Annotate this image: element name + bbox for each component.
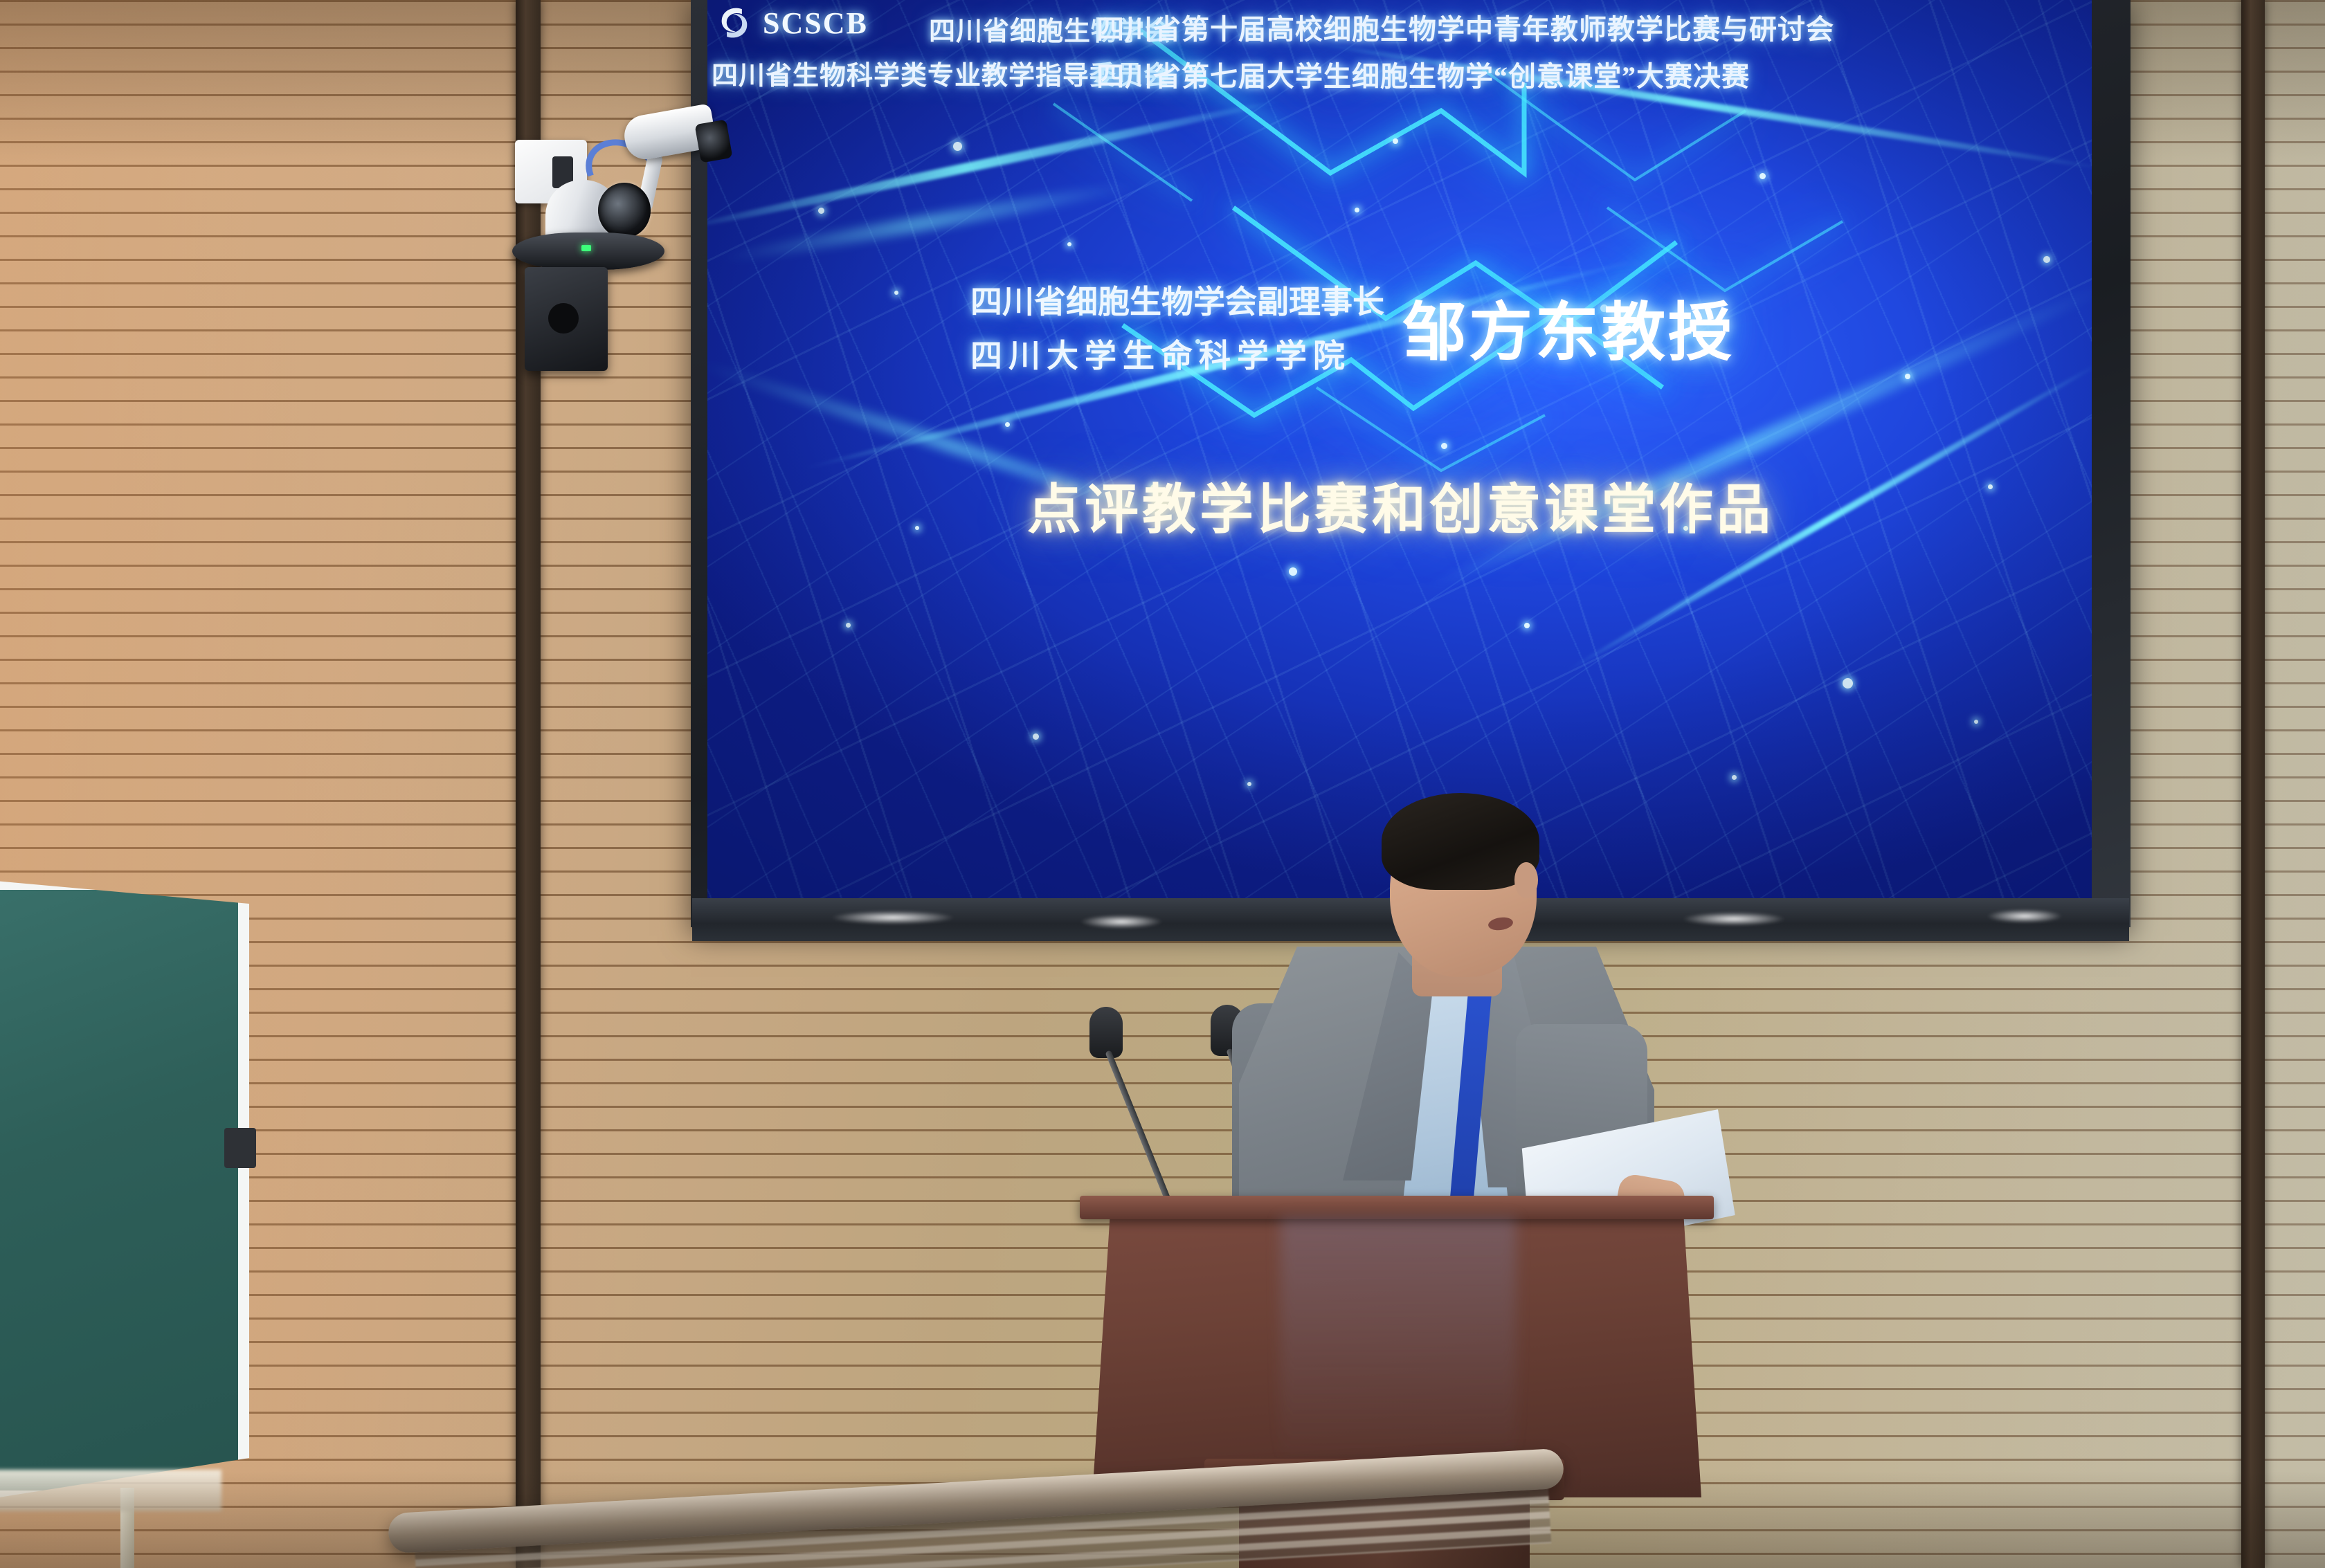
screen-vignette xyxy=(707,0,2092,898)
event-title-line-2: 四川省第七届大学生细胞生物学“创意课堂”大赛决赛 xyxy=(1096,54,1750,94)
speaker-person xyxy=(1239,796,1668,1252)
camera-wall-bracket xyxy=(525,267,608,371)
greenboard-assembly xyxy=(0,879,249,1502)
ptz-camera-lens-icon xyxy=(598,183,651,238)
bullet-camera-lens-icon xyxy=(694,119,732,163)
ptz-camera-base xyxy=(512,233,664,270)
speaker-ear xyxy=(1514,862,1538,898)
wall-camera-rig xyxy=(521,116,714,386)
scscb-swirl-logo-icon xyxy=(714,3,754,43)
conference-photo-scene: SCSCB 四川省细胞生物学会 四川省生物科学类专业教学指导委员会 四川省第十届… xyxy=(0,0,2325,1568)
speaker-name: 邹方东教授 xyxy=(1402,281,1735,373)
chalkboard-clip xyxy=(224,1128,256,1168)
slide-headline: 点评教学比赛和创意课堂作品 xyxy=(1027,466,1774,544)
camera-status-led-icon xyxy=(581,245,591,251)
speaker-affiliation-line-2: 四川大学生命科学学院 xyxy=(970,331,1384,376)
lectern-light-sheen xyxy=(1281,1218,1516,1467)
microphone-capsule-icon xyxy=(1089,1007,1123,1058)
lectern-top-edge xyxy=(1080,1196,1714,1219)
logo-acronym: SCSCB xyxy=(763,6,868,41)
wall-column-divider-right xyxy=(2241,0,2265,1568)
speaker-affiliation-line-1: 四川省细胞生物学会副理事长 xyxy=(970,277,1384,322)
green-chalkboard xyxy=(0,879,249,1502)
event-title-line-1: 四川省第十届高校细胞生物学中青年教师教学比赛与研讨会 xyxy=(1096,7,1834,47)
led-presentation-screen: SCSCB 四川省细胞生物学会 四川省生物科学类专业教学指导委员会 四川省第十届… xyxy=(707,0,2092,898)
speaker-identity-block: 四川省细胞生物学会副理事长 四川大学生命科学学院 邹方东教授 xyxy=(970,277,1735,376)
scscb-logo-group: SCSCB xyxy=(714,3,868,43)
chalkboard-base-shadow xyxy=(0,1470,221,1511)
